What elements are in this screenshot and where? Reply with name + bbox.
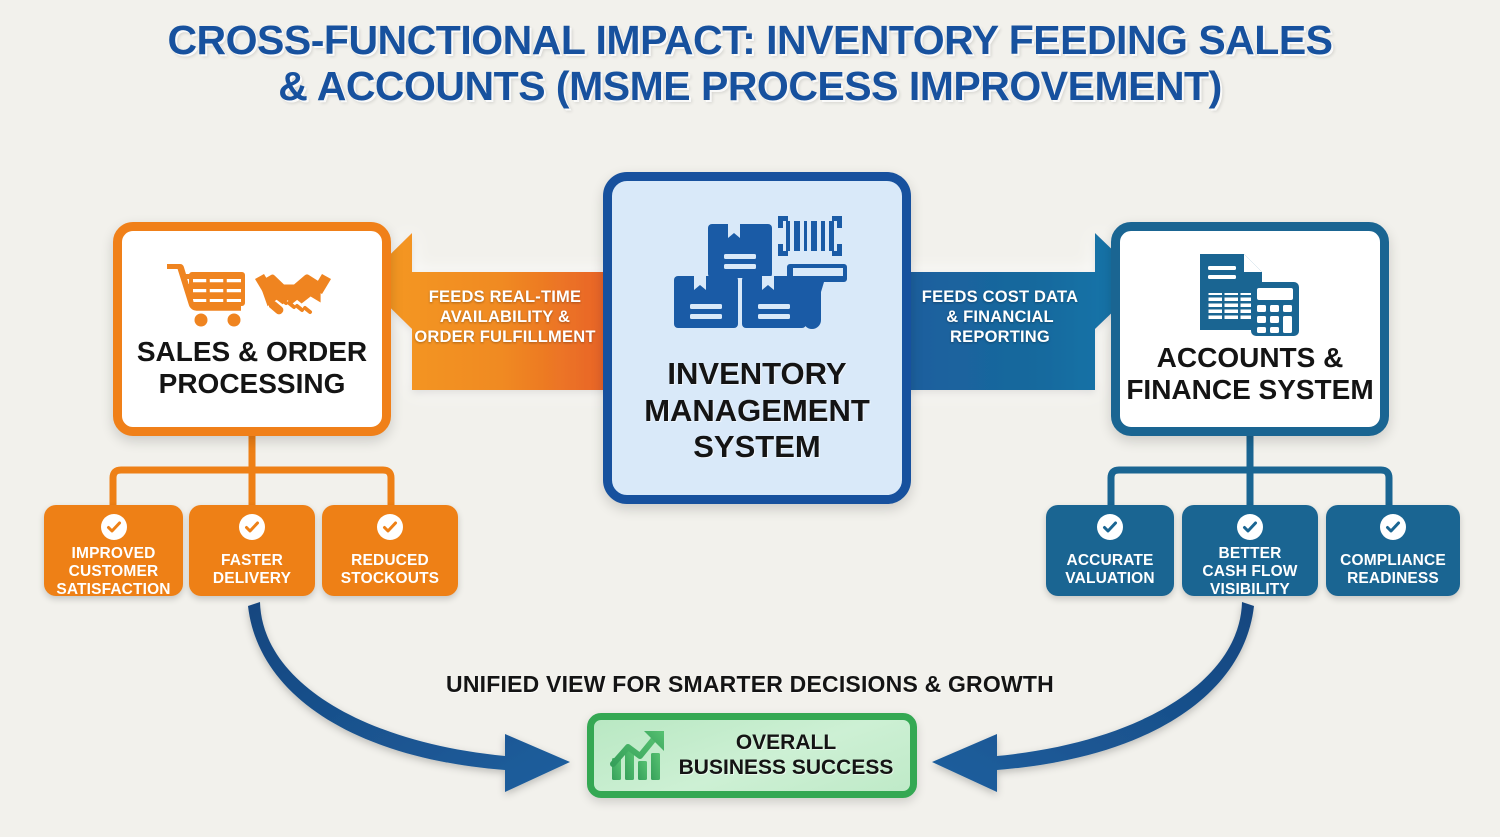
benefit-chip-label: REDUCED STOCKOUTS (341, 552, 439, 588)
pillar-accounts-label-line1: ACCOUNTS & (1126, 342, 1373, 374)
arrow-label-line1: FEEDS REAL-TIME (406, 288, 604, 308)
check-circle-icon (239, 514, 265, 540)
diagram-canvas: CROSS-FUNCTIONAL IMPACT: INVENTORY FEEDI… (0, 0, 1500, 837)
arrow-label-line3: REPORTING (902, 328, 1098, 348)
benefit-chip-label: ACCURATE VALUATION (1065, 552, 1154, 588)
check-circle-icon (101, 514, 127, 540)
pillar-center-label-line1: INVENTORY (644, 356, 870, 393)
benefit-chip-label: BETTER CASH FLOW VISIBILITY (1202, 545, 1297, 599)
pillar-inventory-management-system[interactable]: INVENTORY MANAGEMENT SYSTEM (603, 172, 911, 504)
pillar-accounts-label: ACCOUNTS & FINANCE SYSTEM (1126, 342, 1373, 406)
benefit-chip-accurate-valuation[interactable]: ACCURATE VALUATION (1046, 505, 1174, 596)
pillar-center-label-line3: SYSTEM (644, 429, 870, 466)
arrow-label-line3: ORDER FULFILLMENT (406, 328, 604, 348)
benefit-chip-label: IMPROVED CUSTOMER SATISFACTION (56, 545, 170, 599)
pillar-center-label: INVENTORY MANAGEMENT SYSTEM (644, 356, 870, 466)
unified-view-caption: UNIFIED VIEW FOR SMARTER DECISIONS & GRO… (350, 671, 1150, 698)
check-circle-icon (1380, 514, 1406, 540)
check-circle-icon (1237, 514, 1263, 540)
check-circle-icon (377, 514, 403, 540)
arrow-label-feeds-accounts: FEEDS COST DATA & FINANCIAL REPORTING (902, 288, 1098, 347)
benefit-chip-reduced-stockouts[interactable]: REDUCED STOCKOUTS (322, 505, 458, 596)
outcome-label-line2: BUSINESS SUCCESS (670, 756, 902, 781)
arrow-label-feeds-sales: FEEDS REAL-TIME AVAILABILITY & ORDER FUL… (406, 288, 604, 347)
connector-accounts-to-benefits (1111, 436, 1389, 505)
benefit-chip-compliance-readiness[interactable]: COMPLIANCE READINESS (1326, 505, 1460, 596)
connector-sales-to-benefits (113, 436, 391, 505)
pillar-center-label-line2: MANAGEMENT (644, 393, 870, 430)
benefit-chip-label: FASTER DELIVERY (213, 552, 291, 588)
arrow-label-line2: AVAILABILITY & (406, 308, 604, 328)
pillar-sales-label-line1: SALES & ORDER (137, 336, 367, 368)
benefit-chip-faster-delivery[interactable]: FASTER DELIVERY (189, 505, 315, 596)
arrow-label-line2: & FINANCIAL (902, 308, 1098, 328)
pillar-sales-order-processing[interactable]: SALES & ORDER PROCESSING (113, 222, 391, 436)
outcome-overall-business-success[interactable]: OVERALL BUSINESS SUCCESS (587, 713, 917, 798)
outcome-label-line1: OVERALL (670, 731, 902, 756)
shopping-cart-handshake-icon (163, 258, 341, 330)
pillar-accounts-finance-system[interactable]: ACCOUNTS & FINANCE SYSTEM (1111, 222, 1389, 436)
benefit-chip-improved-customer-satisfaction[interactable]: IMPROVED CUSTOMER SATISFACTION (44, 505, 183, 596)
check-circle-icon (1097, 514, 1123, 540)
pillar-sales-label: SALES & ORDER PROCESSING (137, 336, 367, 400)
arrow-label-line1: FEEDS COST DATA (902, 288, 1098, 308)
boxes-barcode-scanner-icon (666, 210, 848, 334)
growth-chart-icon (608, 728, 670, 784)
outcome-label: OVERALL BUSINESS SUCCESS (670, 731, 910, 781)
pillar-accounts-label-line2: FINANCE SYSTEM (1126, 374, 1373, 406)
benefit-chip-better-cash-flow-visibility[interactable]: BETTER CASH FLOW VISIBILITY (1182, 505, 1318, 596)
benefit-chip-label: COMPLIANCE READINESS (1340, 552, 1446, 588)
pillar-sales-label-line2: PROCESSING (137, 368, 367, 400)
invoice-calculator-icon (1194, 252, 1306, 336)
